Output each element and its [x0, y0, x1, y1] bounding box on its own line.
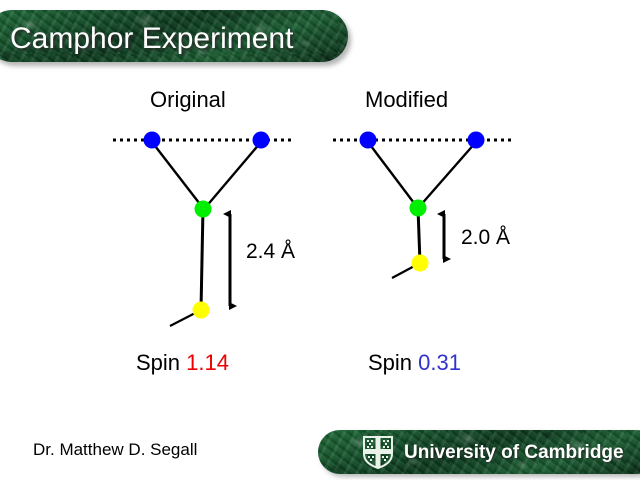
atom-blue-right-original: [253, 132, 270, 149]
cambridge-coat-of-arms-icon: [360, 434, 396, 470]
spin-value-modified: 0.31: [418, 350, 461, 375]
slide-canvas: Camphor Experiment Original Modified: [0, 0, 640, 480]
atom-yellow-modified: [412, 255, 429, 272]
atom-blue-left-modified: [360, 132, 377, 149]
bond-blue-right-to-green-original: [205, 142, 261, 208]
structure-modified: [333, 132, 513, 279]
structure-original: [113, 132, 293, 327]
author-name: Dr. Matthew D. Segall: [33, 440, 197, 460]
atom-blue-left-original: [144, 132, 161, 149]
bond-green-to-yellow-original: [201, 208, 203, 310]
atom-blue-right-modified: [468, 132, 485, 149]
spin-prefix-original: Spin: [136, 350, 180, 375]
bond-blue-right-to-green-modified: [419, 142, 476, 207]
bond-blue-left-to-green-modified: [368, 142, 417, 207]
distance-label-modified: 2.0 Å: [461, 226, 510, 250]
molecular-structure-diagrams: [0, 0, 640, 480]
spin-label-modified: Spin 0.31: [368, 350, 461, 376]
institution-name: University of Cambridge: [404, 440, 624, 466]
atom-yellow-original: [193, 302, 210, 319]
spin-value-original: 1.14: [186, 350, 229, 375]
spin-label-original: Spin 1.14: [136, 350, 229, 376]
atom-green-modified: [410, 200, 427, 217]
distance-label-original: 2.4 Å: [246, 240, 295, 264]
atom-green-original: [195, 201, 212, 218]
spin-prefix-modified: Spin: [368, 350, 412, 375]
bond-blue-left-to-green-original: [152, 142, 203, 208]
